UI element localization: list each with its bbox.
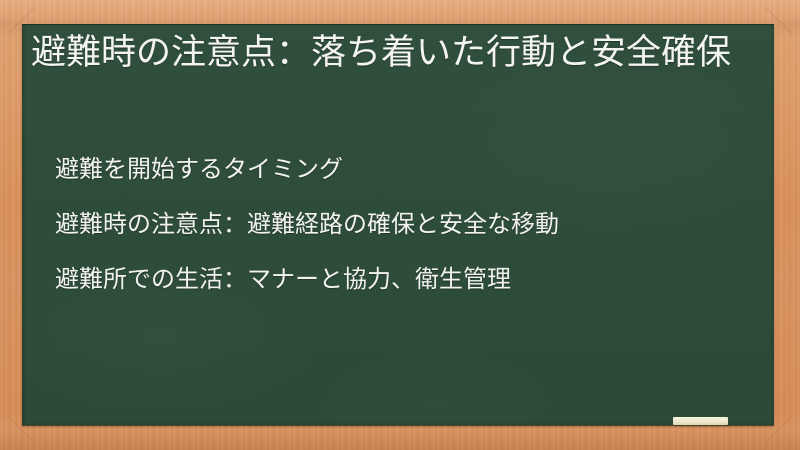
bullet-list: 避難を開始するタイミング 避難時の注意点：避難経路の確保と安全な移動 避難所での… [55,154,755,294]
blackboard-surface: 避難時の注意点：落ち着いた行動と安全確保 避難を開始するタイミング 避難時の注意… [22,24,774,425]
list-item: 避難を開始するタイミング [55,154,755,184]
slide-title: 避難時の注意点：落ち着いた行動と安全確保 [31,30,751,77]
list-item: 避難時の注意点：避難経路の確保と安全な移動 [55,209,755,239]
chalk-stick [673,417,728,425]
blackboard-slide: 避難時の注意点：落ち着いた行動と安全確保 避難を開始するタイミング 避難時の注意… [0,0,800,450]
list-item: 避難所での生活：マナーと協力、衛生管理 [55,264,755,294]
